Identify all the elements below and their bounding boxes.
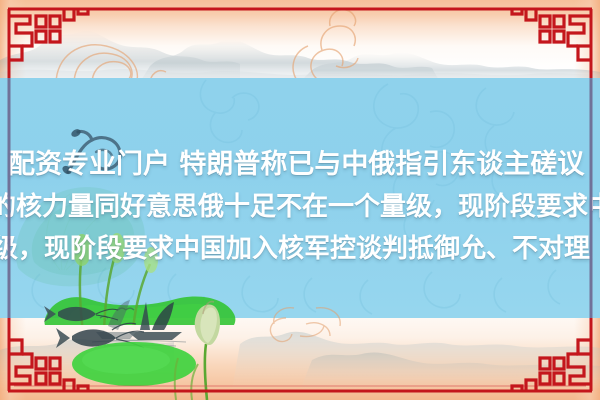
banner-image: 配资专业门户 特朗普称已与中俄指引东谈主磋议 的核力量同好意思俄十足不在一个量级… xyxy=(0,0,600,400)
decorative-red-frame xyxy=(0,0,600,400)
fret-corner-bottom-left xyxy=(9,340,88,391)
fret-corner-top-right xyxy=(512,9,591,60)
fret-corner-top-left xyxy=(9,9,88,60)
fret-corner-bottom-right xyxy=(512,340,591,391)
